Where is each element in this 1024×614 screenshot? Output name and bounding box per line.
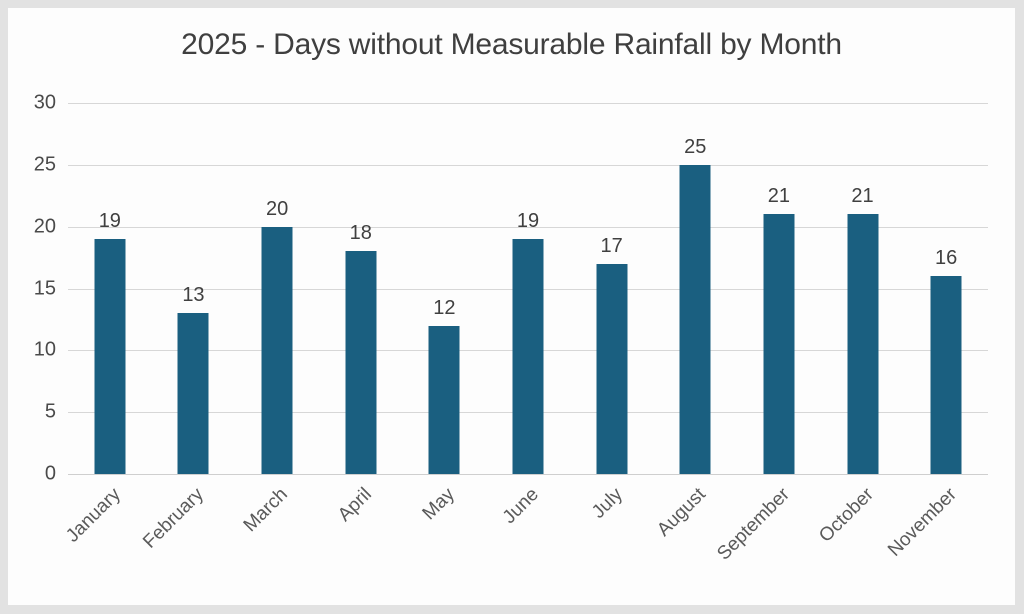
bar-value-label: 12 bbox=[433, 297, 455, 320]
bar[interactable] bbox=[262, 227, 293, 474]
y-axis-tick-label: 30 bbox=[34, 92, 56, 115]
bar-group[interactable]: 21September bbox=[737, 103, 821, 474]
y-axis-tick-label: 20 bbox=[34, 215, 56, 238]
x-axis-tick-label: August bbox=[653, 484, 710, 541]
bar-value-label: 20 bbox=[266, 198, 288, 221]
gridline bbox=[68, 474, 988, 475]
y-axis-tick-label: 0 bbox=[45, 463, 56, 486]
x-axis-tick-label: November bbox=[884, 484, 962, 562]
chart-canvas: 2025 - Days without Measurable Rainfall … bbox=[8, 8, 1015, 605]
bar[interactable] bbox=[847, 214, 878, 474]
y-axis-tick-label: 5 bbox=[45, 401, 56, 424]
bar-group[interactable]: 19June bbox=[486, 103, 570, 474]
bar-group[interactable]: 25August bbox=[653, 103, 737, 474]
bar-value-label: 16 bbox=[935, 247, 957, 270]
bar-group[interactable]: 12May bbox=[403, 103, 487, 474]
x-axis-tick-label: September bbox=[713, 484, 794, 565]
bar-group[interactable]: 20March bbox=[235, 103, 319, 474]
bar-group[interactable]: 13February bbox=[152, 103, 236, 474]
bar-value-label: 19 bbox=[99, 210, 121, 233]
x-axis-tick-label: January bbox=[62, 484, 125, 547]
x-axis-tick-label: May bbox=[419, 484, 460, 525]
bar-value-label: 13 bbox=[182, 284, 204, 307]
bar-group[interactable]: 21October bbox=[821, 103, 905, 474]
bar-group[interactable]: 16November bbox=[904, 103, 988, 474]
y-axis-tick-label: 15 bbox=[34, 277, 56, 300]
x-axis-tick-label: October bbox=[815, 484, 878, 547]
bar[interactable] bbox=[429, 326, 460, 474]
chart-title: 2025 - Days without Measurable Rainfall … bbox=[8, 28, 1015, 62]
bar-value-label: 19 bbox=[517, 210, 539, 233]
bar-group[interactable]: 19January bbox=[68, 103, 152, 474]
x-axis-tick-label: June bbox=[499, 484, 544, 529]
bar-value-label: 21 bbox=[768, 185, 790, 208]
bar-value-label: 21 bbox=[851, 185, 873, 208]
bar[interactable] bbox=[931, 276, 962, 474]
bar[interactable] bbox=[763, 214, 794, 474]
x-axis-tick-label: April bbox=[334, 484, 376, 526]
y-axis-tick-label: 10 bbox=[34, 339, 56, 362]
bar-value-label: 18 bbox=[350, 222, 372, 245]
bar-group[interactable]: 17July bbox=[570, 103, 654, 474]
plot-area: 302520151050 19January13February20March1… bbox=[68, 103, 988, 474]
bar[interactable] bbox=[178, 313, 209, 474]
chart-frame: 2025 - Days without Measurable Rainfall … bbox=[0, 0, 1024, 614]
x-axis-tick-label: March bbox=[240, 484, 293, 537]
bar-value-label: 25 bbox=[684, 136, 706, 159]
bar-series: 19January13February20March18April12May19… bbox=[68, 103, 988, 474]
bar-group[interactable]: 18April bbox=[319, 103, 403, 474]
y-axis-tick-label: 25 bbox=[34, 153, 56, 176]
bar[interactable] bbox=[512, 239, 543, 474]
bar[interactable] bbox=[680, 165, 711, 474]
bar[interactable] bbox=[345, 251, 376, 474]
x-axis-tick-label: February bbox=[140, 484, 209, 553]
bar-value-label: 17 bbox=[601, 235, 623, 258]
bar[interactable] bbox=[94, 239, 125, 474]
bar[interactable] bbox=[596, 264, 627, 474]
x-axis-tick-label: July bbox=[588, 484, 627, 523]
